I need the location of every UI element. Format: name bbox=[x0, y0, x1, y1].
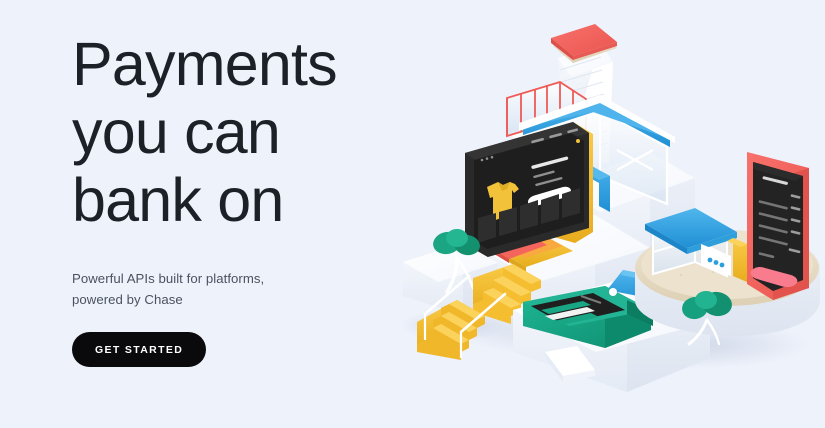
hero-section: Payments you can bank on Powerful APIs b… bbox=[0, 0, 825, 428]
hero-subtitle: Powerful APIs built for platforms, power… bbox=[72, 268, 402, 310]
page-title: Payments you can bank on bbox=[72, 30, 402, 234]
isometric-commerce-illustration bbox=[395, 0, 825, 428]
get-started-button[interactable]: GET STARTED bbox=[72, 332, 206, 367]
hero-copy: Payments you can bank on Powerful APIs b… bbox=[72, 30, 402, 367]
phone-device[interactable] bbox=[747, 152, 809, 300]
tablet-device[interactable] bbox=[465, 122, 593, 259]
